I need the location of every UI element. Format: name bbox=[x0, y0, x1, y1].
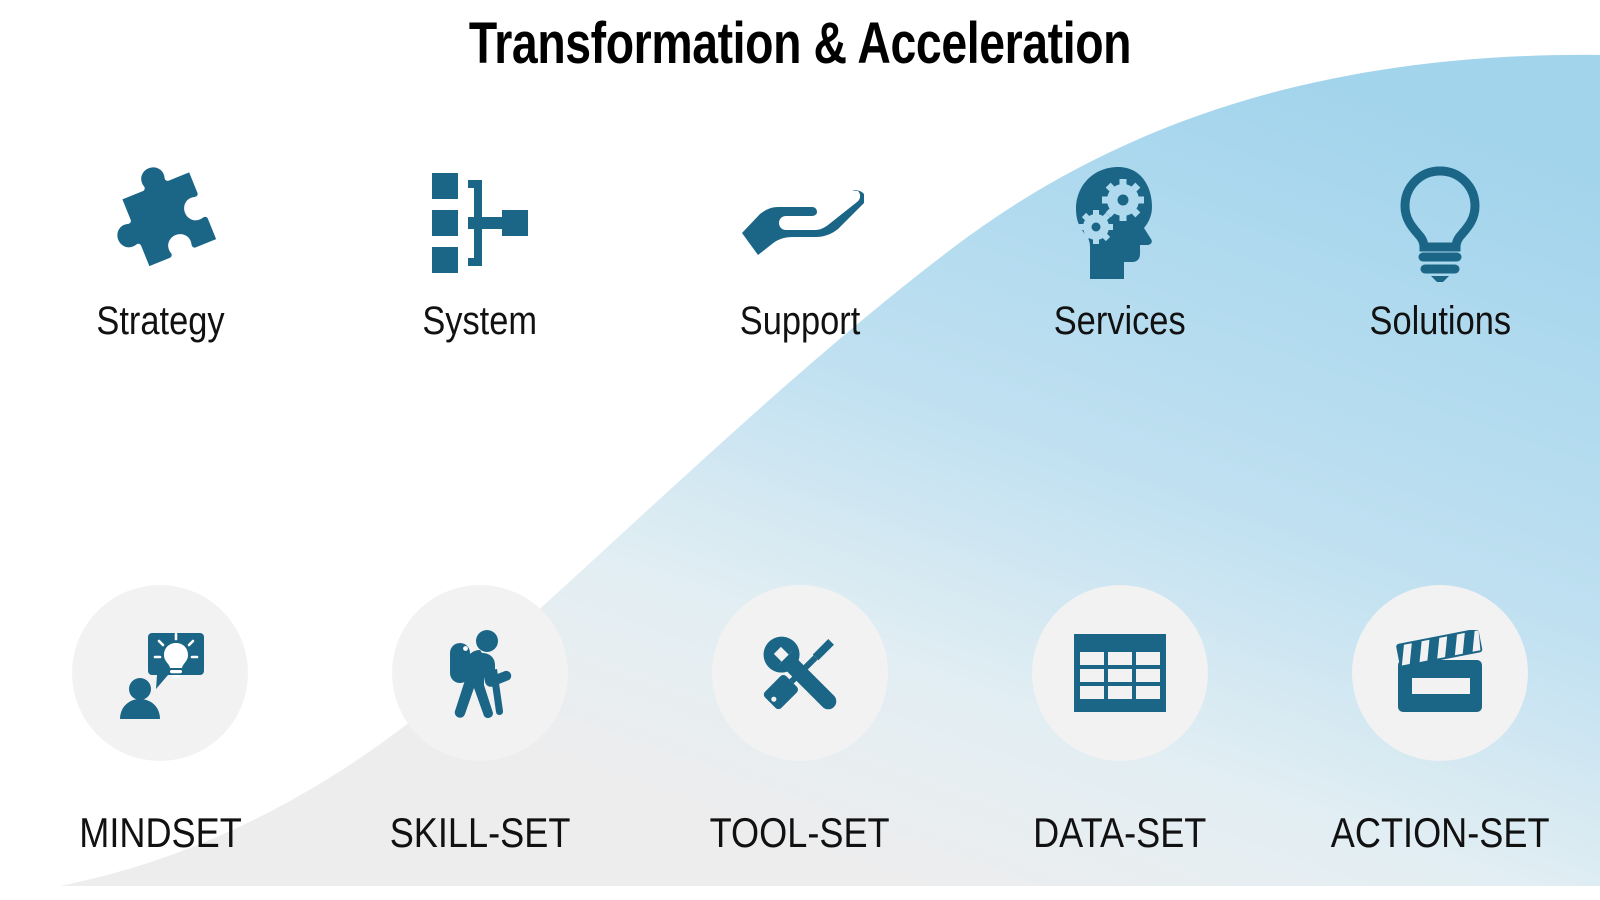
puzzle-piece-icon bbox=[102, 160, 218, 285]
capability-item-strategy[interactable]: Strategy bbox=[0, 160, 320, 344]
icon-circle bbox=[1352, 585, 1528, 761]
set-label: MINDSET bbox=[79, 809, 242, 857]
open-hand-icon bbox=[736, 160, 864, 285]
capability-item-system[interactable]: System bbox=[320, 160, 640, 344]
capability-item-solutions[interactable]: Solutions bbox=[1280, 160, 1600, 344]
set-item-tool-set[interactable]: TOOL-SET bbox=[640, 585, 960, 857]
set-label: SKILL-SET bbox=[390, 809, 571, 857]
capability-item-support[interactable]: Support bbox=[640, 160, 960, 344]
capability-label: Support bbox=[740, 299, 860, 344]
capability-label: Solutions bbox=[1369, 299, 1511, 344]
slide-canvas: Transformation & Acceleration Strategy bbox=[0, 0, 1600, 900]
set-item-mindset[interactable]: MINDSET bbox=[0, 585, 320, 857]
bottom-row-sets: MINDSET SKILL-SET bbox=[0, 585, 1600, 857]
set-item-action-set[interactable]: ACTION-SET bbox=[1280, 585, 1600, 857]
set-item-data-set[interactable]: DATA-SET bbox=[960, 585, 1280, 857]
wrench-screwdriver-icon bbox=[754, 627, 846, 719]
capability-label: Strategy bbox=[96, 299, 224, 344]
set-label: ACTION-SET bbox=[1331, 809, 1550, 857]
table-grid-icon bbox=[1074, 634, 1166, 712]
icon-circle bbox=[712, 585, 888, 761]
capability-item-services[interactable]: Services bbox=[960, 160, 1280, 344]
set-label: TOOL-SET bbox=[710, 809, 890, 857]
icon-circle bbox=[392, 585, 568, 761]
sitemap-hierarchy-icon bbox=[430, 160, 530, 285]
lightbulb-icon bbox=[1396, 160, 1484, 285]
icon-circle bbox=[1032, 585, 1208, 761]
top-row-capabilities: Strategy System bbox=[0, 160, 1600, 344]
icon-circle bbox=[72, 585, 248, 761]
page-title: Transformation & Acceleration bbox=[160, 10, 1440, 77]
person-idea-bubble-icon bbox=[112, 625, 208, 721]
set-label: DATA-SET bbox=[1033, 809, 1206, 857]
hiker-backpack-icon bbox=[432, 625, 528, 721]
capability-label: System bbox=[423, 299, 538, 344]
clapperboard-icon bbox=[1390, 630, 1490, 716]
head-with-gears-icon bbox=[1070, 160, 1170, 285]
set-item-skill-set[interactable]: SKILL-SET bbox=[320, 585, 640, 857]
capability-label: Services bbox=[1054, 299, 1186, 344]
